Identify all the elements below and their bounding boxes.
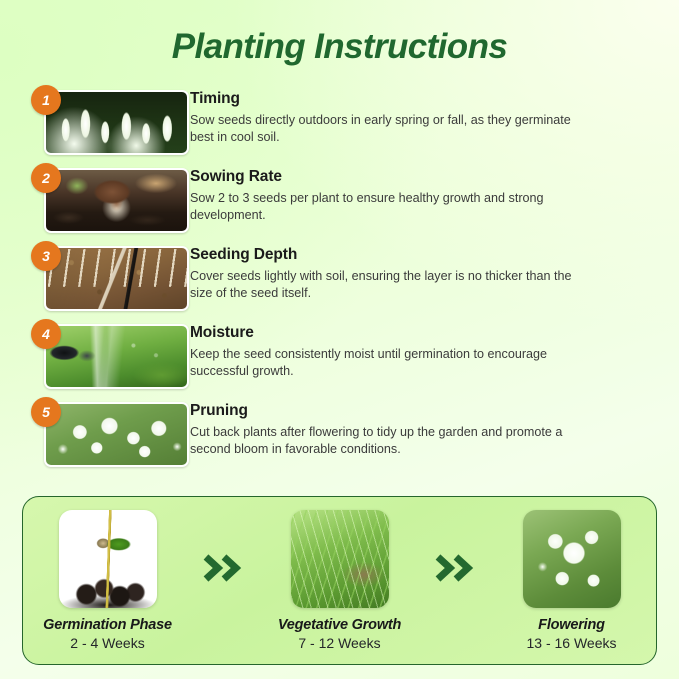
list-item: 2 Sowing Rate Sow 2 to 3 seeds per plant… [22, 163, 657, 241]
phase-arrow [178, 553, 269, 609]
step-title: Moisture [190, 324, 657, 342]
step-thumbnail [44, 90, 189, 155]
phase-name: Vegetative Growth [269, 617, 410, 633]
rake-on-soil-photo [46, 248, 187, 309]
white-blossoms-photo [46, 404, 187, 465]
step-number-badge: 2 [31, 163, 61, 193]
white-flower-photo [523, 510, 621, 608]
step-description: Cover seeds lightly with soil, ensuring … [190, 268, 585, 302]
step-title: Pruning [190, 402, 657, 420]
phase-image [523, 510, 621, 608]
step-thumbnail [44, 402, 189, 467]
phase-duration: 7 - 12 Weeks [269, 635, 410, 651]
step-title: Seeding Depth [190, 246, 657, 264]
phase-name: Germination Phase [37, 617, 178, 633]
list-item: 1 Timing Sow seeds directly outdoors in … [22, 85, 657, 163]
step-text: Pruning Cut back plants after flowering … [190, 397, 657, 458]
step-number-badge: 3 [31, 241, 61, 271]
step-title: Sowing Rate [190, 168, 657, 186]
timeline-phase-germination: Germination Phase 2 - 4 Weeks [37, 510, 178, 651]
step-description: Keep the seed consistently moist until g… [190, 346, 585, 380]
step-thumbnail-wrap: 2 [22, 163, 190, 233]
phase-image [291, 510, 389, 608]
double-chevron-right-icon [202, 553, 246, 583]
list-item: 4 Moisture Keep the seed consistently mo… [22, 319, 657, 397]
step-thumbnail-wrap: 5 [22, 397, 190, 467]
list-item: 5 Pruning Cut back plants after flowerin… [22, 397, 657, 475]
white-flower-spikes-photo [46, 92, 187, 153]
step-description: Cut back plants after flowering to tidy … [190, 424, 585, 458]
step-thumbnail-wrap: 4 [22, 319, 190, 389]
step-number-badge: 4 [31, 319, 61, 349]
step-number-badge: 1 [31, 85, 61, 115]
step-thumbnail [44, 168, 189, 233]
step-thumbnail [44, 324, 189, 389]
list-item: 3 Seeding Depth Cover seeds lightly with… [22, 241, 657, 319]
planting-steps-list: 1 Timing Sow seeds directly outdoors in … [0, 85, 679, 475]
phase-duration: 13 - 16 Weeks [501, 635, 642, 651]
phase-arrow [410, 553, 501, 609]
step-title: Timing [190, 90, 657, 108]
green-foliage-photo [291, 510, 389, 608]
hand-sowing-seeds-photo [46, 170, 187, 231]
double-chevron-right-icon [434, 553, 478, 583]
phase-name: Flowering [501, 617, 642, 633]
step-thumbnail-wrap: 1 [22, 85, 190, 155]
step-thumbnail-wrap: 3 [22, 241, 190, 311]
step-text: Timing Sow seeds directly outdoors in ea… [190, 85, 657, 146]
step-text: Seeding Depth Cover seeds lightly with s… [190, 241, 657, 302]
step-number-badge: 5 [31, 397, 61, 427]
step-description: Sow seeds directly outdoors in early spr… [190, 112, 585, 146]
step-thumbnail [44, 246, 189, 311]
phase-duration: 2 - 4 Weeks [37, 635, 178, 651]
timeline-phase-vegetative: Vegetative Growth 7 - 12 Weeks [269, 510, 410, 651]
growth-timeline-panel: Germination Phase 2 - 4 Weeks Vegetative… [22, 496, 657, 665]
hose-watering-lawn-photo [46, 326, 187, 387]
phase-image [59, 510, 157, 608]
step-description: Sow 2 to 3 seeds per plant to ensure hea… [190, 190, 585, 224]
timeline-phase-flowering: Flowering 13 - 16 Weeks [501, 510, 642, 651]
page-title: Planting Instructions [0, 0, 679, 64]
step-text: Sowing Rate Sow 2 to 3 seeds per plant t… [190, 163, 657, 224]
step-text: Moisture Keep the seed consistently mois… [190, 319, 657, 380]
seedling-sprout-photo [59, 510, 157, 608]
